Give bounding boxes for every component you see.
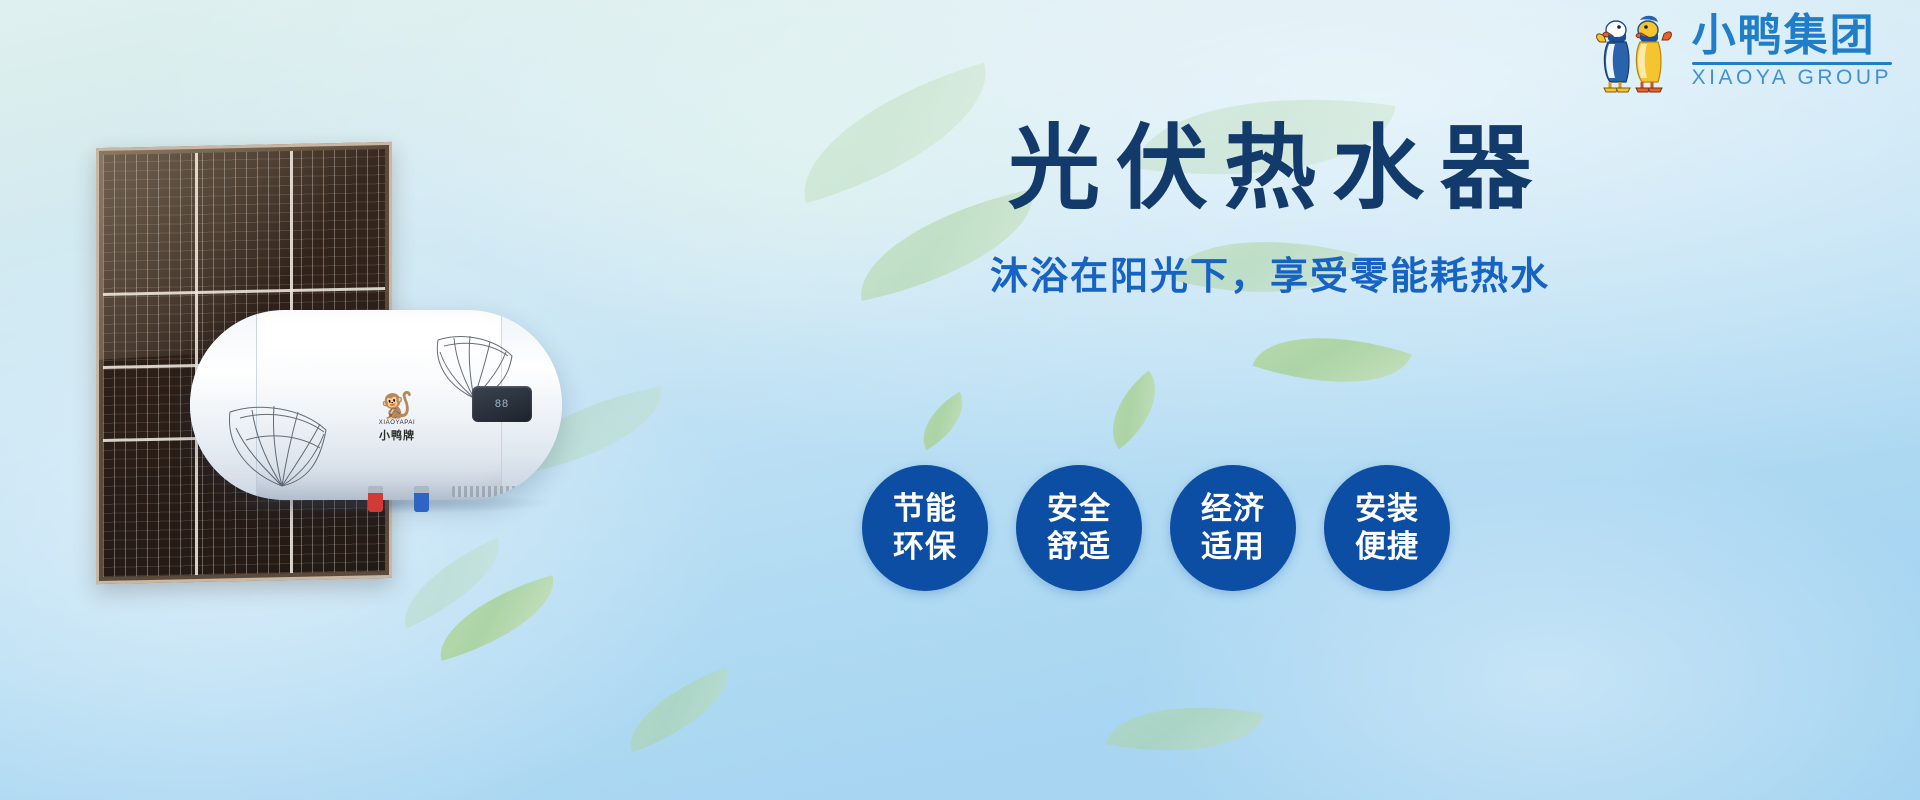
leaf-icon [427, 575, 566, 661]
feature-badge-easy-install[interactable]: 安装 便捷 [1324, 465, 1450, 591]
brand-name-cn: 小鸭集团 [1692, 14, 1892, 59]
cold-water-inlet [414, 486, 429, 512]
badge-line-2: 舒适 [1047, 528, 1111, 566]
page-title: 光伏热水器 [896, 120, 1660, 219]
tank-label-strip [452, 486, 534, 497]
tank-brand-mark: 🐒 XIAOYAPAI 小鸭牌 [366, 392, 428, 443]
tank-brand-pinyin: XIAOYAPAI [366, 420, 428, 426]
brand-logo[interactable]: 小鸭集团 XIAOYA GROUP [1586, 8, 1892, 94]
duck-mascot-pair-icon [1586, 8, 1682, 94]
heater-display-panel[interactable]: 88 [472, 386, 532, 422]
leaf-icon [909, 392, 976, 450]
leaf-icon [615, 667, 742, 752]
hero-copy: 光伏热水器 沐浴在阳光下，享受零能耗热水 [880, 120, 1660, 300]
brand-divider [1692, 62, 1892, 65]
display-value: 88 [495, 398, 509, 410]
brand-name-en: XIAOYA GROUP [1692, 67, 1892, 88]
badge-line-1: 节能 [893, 490, 957, 528]
tank-brand-cn: 小鸭牌 [366, 427, 428, 443]
feature-badge-economical[interactable]: 经济 适用 [1170, 465, 1296, 591]
tank-end-cap-left [190, 310, 257, 500]
leaf-icon [1252, 309, 1411, 412]
badge-line-1: 安装 [1355, 490, 1419, 528]
hero-subtitle: 沐浴在阳光下，享受零能耗热水 [880, 245, 1660, 300]
leaf-icon [1092, 370, 1176, 449]
brand-wordmark: 小鸭集团 XIAOYA GROUP [1692, 14, 1892, 88]
feature-badge-safe-comfort[interactable]: 安全 舒适 [1016, 465, 1142, 591]
promo-banner: 🐒 XIAOYAPAI 小鸭牌 88 [0, 0, 1920, 800]
badge-line-2: 适用 [1201, 528, 1265, 566]
badge-line-2: 便捷 [1355, 528, 1419, 566]
feature-badge-energy-saving[interactable]: 节能 环保 [862, 465, 988, 591]
badge-line-1: 经济 [1201, 490, 1265, 528]
feature-badge-list: 节能 环保 安全 舒适 经济 适用 安装 便捷 [862, 465, 1450, 591]
leaf-icon [1106, 687, 1264, 770]
heater-tank-body: 🐒 XIAOYAPAI 小鸭牌 88 [190, 310, 562, 500]
leaf-icon [388, 538, 516, 629]
badge-line-2: 环保 [893, 528, 957, 566]
duck-outline-icon: 🐒 [366, 392, 428, 418]
badge-line-1: 安全 [1047, 490, 1111, 528]
electric-water-heater: 🐒 XIAOYAPAI 小鸭牌 88 [190, 310, 562, 500]
hot-water-outlet [368, 486, 383, 512]
